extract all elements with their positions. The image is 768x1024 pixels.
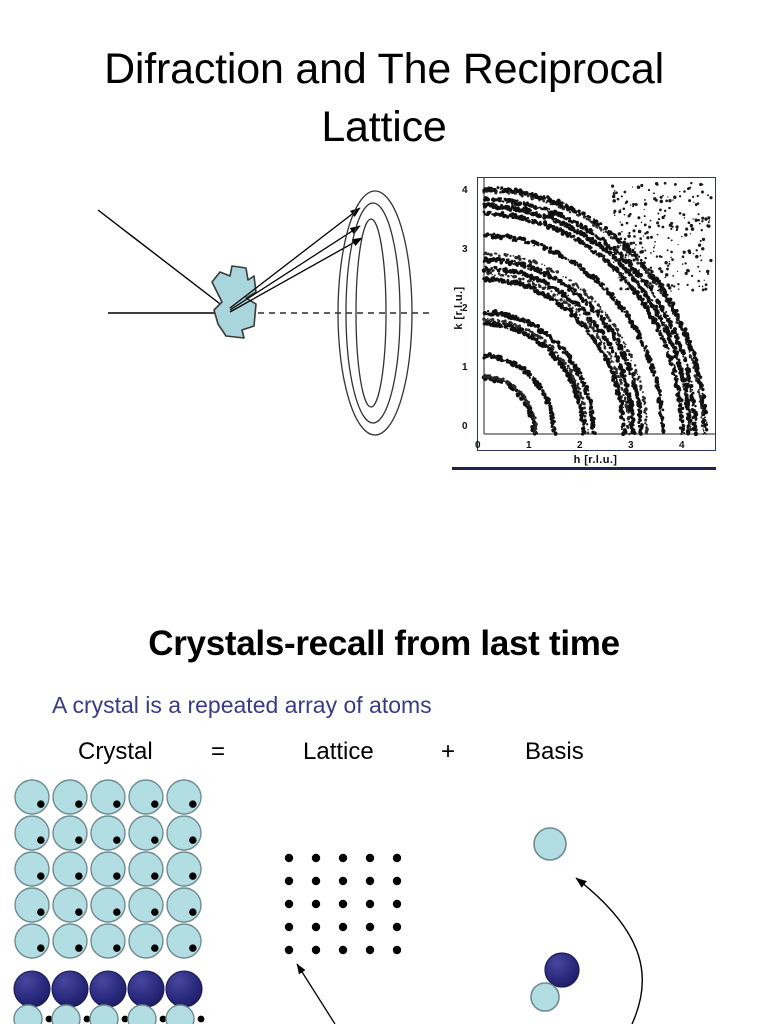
equation-operator-equals: = (211, 738, 225, 766)
figure-baseline-rule (452, 467, 716, 470)
page-title: Difraction and The Reciprocal Lattice (40, 40, 728, 156)
crystal-atom-light (167, 924, 201, 958)
diffraction-plot-area (477, 177, 716, 451)
x-axis-label: h [r.l.u.] (477, 454, 714, 466)
xtick-2: 2 (577, 440, 583, 451)
lattice-point (312, 877, 320, 885)
crystal-atom-light (166, 1005, 194, 1024)
lattice-point (366, 854, 374, 862)
crystal-atom-dark (128, 971, 164, 1007)
crystal-atom-light (91, 780, 125, 814)
crystal-atom-dark (166, 971, 202, 1007)
crystal-atom-light (15, 852, 49, 886)
basis-atom-light-bottom (531, 983, 559, 1011)
lattice-point (312, 900, 320, 908)
diffraction-pattern-figure: 0 1 2 3 4 0 1 2 3 4 h [r.l.u.] k [r.l.u.… (452, 172, 718, 472)
basis-atom-dark (545, 953, 579, 987)
lattice-point (393, 877, 401, 885)
crystal-atom-light (167, 816, 201, 850)
section-heading: Crystals-recall from last time (0, 624, 768, 664)
crystal-equation: Crystal = Lattice + Basis (0, 738, 768, 772)
crystal-atom-light (91, 816, 125, 850)
lattice-point (339, 877, 347, 885)
lattice-point (285, 854, 293, 862)
crystal-atom-light (167, 852, 201, 886)
crystal-atom-light (129, 852, 163, 886)
ytick-3: 3 (462, 244, 468, 255)
scattering-diagram (70, 180, 440, 470)
crystal-atom-light (53, 852, 87, 886)
crystal-lattice-dot (198, 1016, 205, 1023)
lattice-point (339, 923, 347, 931)
lattice-illustration (275, 842, 435, 1024)
equation-term-crystal: Crystal (78, 738, 153, 766)
lattice-pointer-arrow (297, 964, 335, 1024)
crystal-atom-light (91, 852, 125, 886)
xtick-3: 3 (628, 440, 634, 451)
lattice-point (339, 854, 347, 862)
lattice-point (285, 900, 293, 908)
crystal-atom-light (52, 1005, 80, 1024)
equation-operator-plus: + (441, 738, 455, 766)
crystal-atom-light (91, 924, 125, 958)
lattice-point (366, 946, 374, 954)
crystal-atom-light (91, 888, 125, 922)
lattice-point (393, 900, 401, 908)
lattice-point (339, 900, 347, 908)
crystal-atom-light (15, 780, 49, 814)
crystal-atom-light (129, 780, 163, 814)
basis-pointer-arrow (576, 878, 642, 1024)
basis-illustration (520, 822, 710, 1024)
lattice-point (393, 923, 401, 931)
ytick-4: 4 (462, 185, 468, 196)
lattice-point (366, 877, 374, 885)
lattice-point (285, 923, 293, 931)
xtick-4: 4 (679, 440, 685, 451)
equation-term-basis: Basis (525, 738, 584, 766)
crystal-atom-light (129, 888, 163, 922)
section-subheading: A crystal is a repeated array of atoms (52, 692, 432, 719)
lattice-point (312, 923, 320, 931)
crystal-atom-light (128, 1005, 156, 1024)
lattice-point (366, 923, 374, 931)
crystal-atom-light (15, 924, 49, 958)
crystal-atom-dark (52, 971, 88, 1007)
crystal-atom-light (167, 780, 201, 814)
crystal-atom-light (53, 888, 87, 922)
crystal-atom-light (15, 888, 49, 922)
lattice-point (339, 946, 347, 954)
diffracted-ray-3 (230, 238, 362, 312)
basis-atom-light-top (534, 828, 566, 860)
crystal-atom-light (53, 780, 87, 814)
lattice-point (393, 946, 401, 954)
lattice-point (366, 900, 374, 908)
lattice-point (312, 854, 320, 862)
crystal-atom-light (129, 816, 163, 850)
crystal-atom-dark (90, 971, 126, 1007)
crystal-atom-light (15, 816, 49, 850)
crystal-atom-light (129, 924, 163, 958)
lattice-point (285, 877, 293, 885)
crystal-atom-dark (14, 971, 50, 1007)
crystal-atom-light (53, 924, 87, 958)
lattice-point (312, 946, 320, 954)
diffracted-ray-1 (230, 208, 360, 308)
y-axis-label: k [r.l.u.] (453, 268, 465, 348)
crystal-atom-light (14, 1005, 42, 1024)
crystal-atom-light (53, 816, 87, 850)
ytick-0: 0 (462, 421, 468, 432)
lattice-point (285, 946, 293, 954)
lattice-point (393, 854, 401, 862)
crystal-atom-light (167, 888, 201, 922)
xtick-0: 0 (475, 440, 481, 451)
crystal-illustration (12, 778, 232, 1024)
crystal-atom-light (90, 1005, 118, 1024)
incident-beam-diagonal (98, 210, 228, 310)
equation-term-lattice: Lattice (303, 738, 374, 766)
xtick-1: 1 (526, 440, 532, 451)
ytick-1: 1 (462, 362, 468, 373)
